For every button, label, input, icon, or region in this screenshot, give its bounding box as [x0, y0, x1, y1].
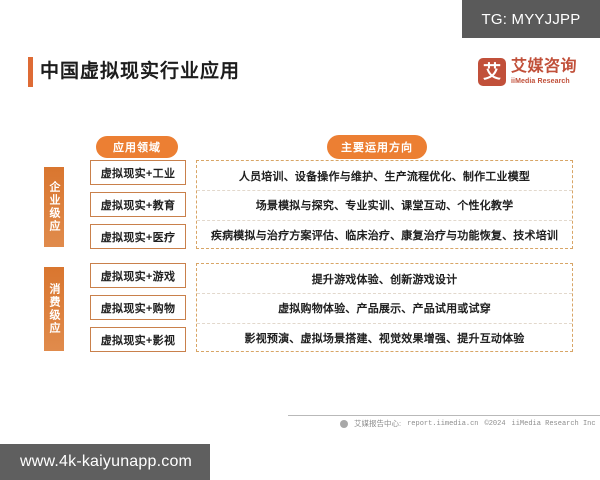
domain-box: 虚拟现实+教育: [90, 192, 186, 217]
direction-panel-consumer: 提升游戏体验、创新游戏设计 虚拟购物体验、产品展示、产品试用或试穿 影视预演、虚…: [196, 263, 573, 352]
domain-box: 虚拟现实+工业: [90, 160, 186, 185]
direction-panel-enterprise: 人员培训、设备操作与维护、生产流程优化、制作工业模型 场景模拟与探究、专业实训、…: [196, 160, 573, 249]
direction-row: 虚拟购物体验、产品展示、产品试用或试穿: [197, 293, 572, 322]
brand-logo: 艾 艾媒咨询 iiMedia Research: [478, 58, 577, 86]
domain-box: 虚拟现实+影视: [90, 327, 186, 352]
footer-logo-icon: [340, 420, 348, 428]
direction-row: 人员培训、设备操作与维护、生产流程优化、制作工业模型: [197, 161, 572, 190]
column-header-domain: 应用领域: [96, 136, 178, 158]
page-title: 中国虚拟现实行业应用: [40, 55, 240, 89]
direction-row: 场景模拟与探究、专业实训、课堂互动、个性化教学: [197, 190, 572, 219]
footer-divider: [288, 415, 600, 416]
footer-url: report.iimedia.cn: [407, 420, 478, 428]
group-consumer: 消费级应 虚拟现实+游戏 虚拟现实+购物 虚拟现实+影视 提升游戏体验、创新游戏…: [0, 263, 600, 356]
footer-source-label: 艾媒报告中心:: [354, 418, 401, 429]
logo-name-en: iiMedia Research: [511, 78, 577, 85]
infographic-page: TG: MYYJJPP 中国虚拟现实行业应用 艾 艾媒咨询 iiMedia Re…: [0, 0, 600, 480]
direction-row: 影视预演、虚拟场景搭建、视觉效果增强、提升互动体验: [197, 323, 572, 352]
footer: 艾媒报告中心: report.iimedia.cn ©2024 iiMedia …: [340, 418, 596, 429]
footer-copyright: ©2024: [485, 420, 506, 428]
direction-row: 提升游戏体验、创新游戏设计: [197, 264, 572, 293]
domain-column-enterprise: 虚拟现实+工业 虚拟现实+教育 虚拟现实+医疗: [90, 160, 186, 256]
title-accent-bar: [28, 57, 33, 87]
logo-name-cn: 艾媒咨询: [511, 59, 577, 75]
domain-box: 虚拟现实+购物: [90, 295, 186, 320]
column-header-direction: 主要运用方向: [327, 135, 427, 159]
domain-box: 虚拟现实+医疗: [90, 224, 186, 249]
category-tab-enterprise: 企业级应: [44, 167, 64, 247]
application-matrix: 企业级应 虚拟现实+工业 虚拟现实+教育 虚拟现实+医疗 人员培训、设备操作与维…: [0, 160, 600, 356]
footer-company: iiMedia Research Inc: [512, 420, 596, 428]
domain-column-consumer: 虚拟现实+游戏 虚拟现实+购物 虚拟现实+影视: [90, 263, 186, 359]
domain-box: 虚拟现实+游戏: [90, 263, 186, 288]
logo-text: 艾媒咨询 iiMedia Research: [511, 59, 577, 85]
direction-row: 疾病模拟与治疗方案评估、临床治疗、康复治疗与功能恢复、技术培训: [197, 220, 572, 249]
category-tab-consumer: 消费级应: [44, 267, 64, 351]
logo-mark-icon: 艾: [478, 58, 506, 86]
group-enterprise: 企业级应 虚拟现实+工业 虚拟现实+教育 虚拟现实+医疗 人员培训、设备操作与维…: [0, 160, 600, 256]
telegram-watermark: TG: MYYJJPP: [462, 0, 600, 38]
site-watermark: www.4k-kaiyunapp.com: [0, 444, 210, 480]
